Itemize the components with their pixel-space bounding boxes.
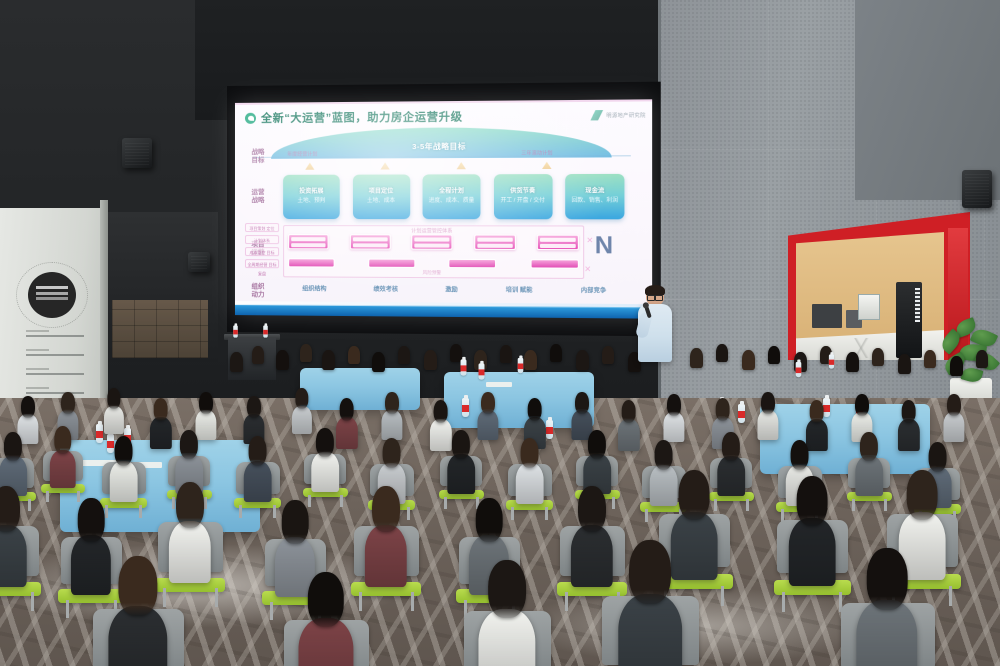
chair-leg [340,495,343,507]
audience-torso [335,417,357,448]
water-bottle [518,358,524,373]
audience-member-far [524,350,537,370]
audience-head [0,486,20,532]
audience-member [584,430,610,488]
chair-leg [782,592,785,612]
audience-member-far [872,348,884,366]
audience-member-far [602,346,614,364]
audience-member [244,436,271,496]
panel-box [474,235,516,250]
chair-leg [746,499,749,511]
panel-box-small [288,258,335,267]
audience-member-far [348,346,360,364]
audience-head [629,540,671,604]
booth-monitor [858,294,880,320]
slide-title: 全新“大运营”蓝图，助力房企运营升级 [261,108,463,126]
audience-member-far [976,350,988,368]
chair-leg [721,586,724,606]
speaker-grill [191,255,207,269]
audience-torso [365,525,407,588]
panel-box-small [531,259,579,268]
chair-leg [407,507,410,519]
audience-head [761,392,775,414]
poster-logo-icon [28,272,76,318]
stage-box-row: 投资拓展 土地、预判 项目定位 土地、成本 全程计划 进度、成本、质量 供货节奏… [283,174,624,221]
audience-head [476,498,503,542]
projection-screen: 全新“大运营”蓝图，助力房企运营升级 明源地产研究院 3-5年战略目标 战略 目… [227,82,661,337]
audience-member [170,482,210,574]
audience-torso [571,525,613,588]
audience-torso [897,419,919,450]
audience-member-far [846,352,859,372]
audience-member-far [322,350,335,370]
audience-member-far [252,346,264,364]
audience-member-far [500,345,512,363]
audience-torso [663,412,684,442]
strategy-arc: 3-5年战略目标 [271,126,612,158]
row-label-organization: 组织 动力 [245,283,271,299]
audience-head [860,432,878,461]
chip: 项目策划 定位 [245,223,279,232]
chair-leg [139,505,142,517]
audience-member-far [716,344,728,362]
chair-leg [28,499,31,511]
chair-leg [545,507,548,519]
audience-head [578,486,606,532]
audience-member-far [550,344,562,362]
round-table [300,368,420,410]
panel-box-row-bottom [288,258,579,268]
booth-pc-tower [896,282,922,358]
booth-equipment-rack [812,304,842,328]
audience-member [176,430,202,488]
audience-head [54,426,72,454]
poster-text-block [26,330,84,397]
audience-member [104,388,123,430]
wall-speaker-left [188,252,210,272]
audience-head [180,430,198,459]
org-item: 内部竞争 [581,285,606,294]
notepad [486,382,512,387]
audience-head [621,400,636,423]
audience-torso [757,410,778,440]
audience-head [247,396,261,418]
milestone-markers: 年度经营计划 三年滚动计划 [287,157,616,170]
audience-member-far [424,350,437,370]
milestone-caption: 年度经营计划 [287,151,317,158]
audience-member [618,400,639,446]
audience-member [300,572,352,666]
audience-member [572,486,612,578]
chip: 全周期经营 目标复盘 [245,259,279,268]
audience-member [718,432,744,490]
audience-torso [855,456,883,495]
panel-box [349,234,390,249]
chair-leg [884,499,887,511]
chair-leg [612,497,615,509]
audience-member [858,548,916,666]
audience-head [382,438,401,468]
audience-head [61,392,75,414]
row-label-strategy: 战略 目标 [245,149,271,165]
speaker-grill [965,173,989,205]
audience-member-far [950,356,963,376]
chair-leg [239,505,242,517]
audience-head [588,430,606,459]
audience-head [901,400,916,423]
panel-box [411,234,452,249]
audience-head [114,436,133,466]
panel-box-small [368,259,415,268]
audience-member [664,394,684,438]
audience-torso [311,452,339,491]
audience-member [244,396,264,440]
audience-head [527,398,542,421]
audience-member [312,428,338,486]
audience-member [478,392,498,436]
water-bottle [479,363,485,379]
audience-member [758,392,778,436]
chip: 计划体系 [245,235,279,244]
audience-torso [617,419,639,450]
chair-leg [66,600,69,618]
chair-leg [511,507,514,519]
speaker-grill [125,141,149,165]
audience-head [153,398,168,421]
water-bottle [233,325,238,337]
chair-leg [359,592,362,611]
audience-head [107,388,120,409]
audience-torso [149,417,171,448]
audience-head [4,432,22,461]
audience-torso [0,525,27,588]
chair-leg [565,592,568,611]
audience-member-far [576,350,589,370]
ceiling-speaker [122,138,152,168]
audience-member [110,436,137,496]
conference-room-photo: 全新“大运营”蓝图，助力房企运营升级 明源地产研究院 3-5年战略目标 战略 目… [0,0,1000,666]
brand-text: 明源地产研究院 [606,111,645,119]
wall-speaker-right [962,170,992,208]
audience-head [118,556,157,616]
audience-member [448,430,474,488]
audience-head [654,440,673,470]
chair-leg [852,499,855,511]
audience-torso [381,410,402,440]
audience-member [620,540,680,666]
audience-torso [447,454,475,493]
presenter [636,286,676,362]
water-bottle [738,404,745,423]
org-item: 绩效考核 [373,284,398,293]
audience-head [520,438,539,468]
audience-head [575,392,589,414]
audience-torso [789,518,836,586]
audience-member-far [398,346,410,364]
audience-member [0,486,26,578]
audience-torso [717,456,745,495]
chair-leg [46,491,49,502]
audience-member [50,426,75,482]
audience-member-far [230,352,243,372]
audience-head [947,394,961,416]
slide-brand: 明源地产研究院 [590,110,645,121]
org-item: 培训 赋能 [506,285,533,294]
audience-head [316,428,334,457]
big-letter-n: N [595,232,612,261]
audience-head [790,440,809,470]
panel-box [288,234,328,249]
audience-head [385,392,399,414]
audience-member [336,398,357,444]
panel-box-row-top [288,234,579,250]
chair-leg [444,497,447,509]
audience-member [110,556,166,666]
audience-head [679,470,710,520]
chair-leg [949,586,952,606]
audience-member-far [690,348,703,368]
audience-torso [103,406,123,435]
company-mark-icon [590,110,603,120]
stage-box: 供货节奏 开工 / 开盘 / 交付 [493,174,552,219]
arc-label: 3-5年战略目标 [271,140,612,153]
chair-leg [270,602,273,620]
leaf-circle-icon [245,112,256,123]
audience-torso [109,461,138,502]
control-system-panel: 计划运营管控体系 风险预警 [283,225,584,279]
audience-head [372,486,400,532]
audience-head [308,572,344,627]
audience-member [72,498,110,586]
water-bottle [829,354,834,368]
chair-leg [215,588,218,607]
org-item: 激励 [445,284,457,293]
audience-head [722,432,740,461]
chip: 成本管控 目标 [245,247,279,256]
stage-box: 现金流 回款、销售、利润 [565,174,624,219]
audience-member-far [276,350,289,370]
audience-head [248,436,267,466]
presentation-slide: 全新“大运营”蓝图，助力房企运营升级 明源地产研究院 3-5年战略目标 战略 目… [235,99,652,318]
panel-caption-bottom: 风险预警 [284,269,583,277]
stage-box: 投资拓展 土地、预判 [283,175,340,219]
audience-member [150,398,171,444]
panel-box [537,235,579,251]
audience-member [382,392,402,436]
water-bottle [546,420,553,439]
audience-torso [291,406,311,435]
audience-head [667,394,681,416]
audience-member-far [898,354,911,374]
audience-member-far [768,346,780,364]
chair-leg [411,592,414,611]
audience-head [481,392,495,414]
audience-member [366,486,406,578]
potted-plant-icon [930,318,1000,390]
audience-head [715,398,730,421]
audience-head [797,476,828,526]
org-item: 组织结构 [302,283,326,292]
audience-head [867,548,908,610]
glasses-icon [647,295,663,299]
audience-member-far [924,350,936,368]
audience-torso [943,412,964,442]
audience-head [282,500,309,544]
audience-torso [515,463,544,504]
water-bottle [96,424,103,443]
water-bottle [462,398,469,417]
audience-head [295,388,308,409]
stage-box: 全程计划 进度、成本、质量 [423,174,481,219]
chair-leg [645,509,648,521]
audience-torso [169,521,211,584]
audience-torso [477,410,498,440]
audience-head [855,394,869,416]
row-label-operations: 运营 战略 [245,189,271,205]
water-bottle [263,325,268,337]
audience-torso [71,535,111,595]
audience-head [433,400,448,423]
audience-head [928,442,947,472]
audience-member [292,388,311,430]
audience-member [856,432,882,490]
audience-torso [618,594,682,666]
audience-member [480,560,534,666]
audience-member-far [300,344,312,362]
audience-head [488,560,526,618]
audience-head [21,396,35,418]
audience-member [944,394,964,438]
stacked-boxes [112,300,208,358]
audience-head [339,398,354,421]
slide-header: 全新“大运营”蓝图，助力房企运营升级 明源地产研究院 [245,106,646,127]
audience-head [452,430,470,459]
chair-leg [31,592,34,611]
audience-member-far [742,350,755,370]
audience-head [907,470,938,520]
audience-member [516,438,543,498]
organization-row: 组织结构 绩效考核 激励 培训 赋能 内部竞争 [279,283,631,294]
audience-member [0,432,26,490]
audience-head [176,482,204,528]
milestone-caption: 三年滚动计划 [521,149,552,156]
stage-box: 项目定位 土地、成本 [352,174,409,219]
audience-member [898,400,919,446]
cross-marker-icon: ✕ [584,265,591,274]
audience-torso [49,450,76,488]
water-bottle [796,362,802,377]
audience-head [199,392,213,414]
cross-marker-icon: ✕ [586,236,593,245]
audience-member-far [372,352,385,372]
water-bottle [461,359,467,375]
audience-torso [243,461,272,502]
audience-head [809,400,824,423]
left-chip-stack: 项目策划 定位 计划体系 成本管控 目标 全周期经营 目标复盘 [245,223,279,271]
panel-box-small [449,259,497,268]
audience-member [790,476,834,576]
audience-head [78,498,105,542]
